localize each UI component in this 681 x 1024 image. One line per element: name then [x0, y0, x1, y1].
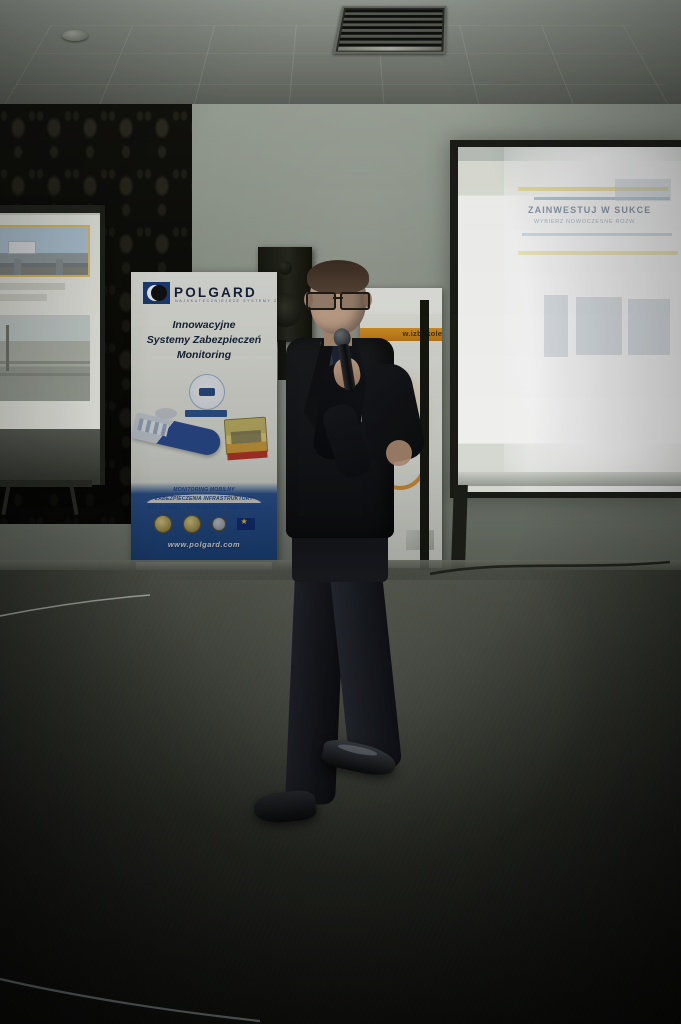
tripod-bar [0, 480, 92, 487]
tripod-leg [69, 485, 78, 515]
eyeglasses-icon [305, 292, 371, 307]
right-screen-base-shadow [458, 472, 681, 486]
slide-railway-photo [0, 315, 90, 401]
lens-right [340, 292, 370, 310]
hvac-vent-icon [333, 6, 446, 54]
right-projection-screen: ZAINWESTUJ W SUKCE WYBIERZ NOWOCZESNE RO… [450, 140, 681, 498]
vent-lip [338, 47, 442, 51]
conference-room-photo: ZAINWESTUJ W SUKCE WYBIERZ NOWOCZESNE RO… [0, 0, 681, 1024]
slide-thumbnail [628, 299, 670, 355]
slide-accent-bar-yellow [518, 251, 678, 255]
rail-line [0, 361, 90, 364]
tripod-leg [1, 485, 10, 515]
slide-bridge-photo [0, 225, 90, 277]
right-slide-subheadline: WYBIERZ NOWOCZESNE ROZW [534, 219, 681, 225]
lens-left [306, 292, 336, 310]
speaker-person [234, 264, 424, 844]
slide-caption-line-2 [0, 294, 47, 301]
left-screen-slide [0, 215, 100, 430]
left-projection-screen [0, 205, 105, 485]
bridge-pier [14, 259, 21, 275]
right-slide-headline: ZAINWESTUJ W SUKCE [528, 205, 681, 215]
floor-cable-bottom [0, 965, 260, 1024]
slide-text-block [615, 179, 671, 201]
left-screen-shadow [0, 429, 100, 485]
vent-slats [338, 10, 443, 50]
rail-line [0, 373, 90, 376]
hair [307, 260, 369, 294]
floor-cable-right [430, 556, 670, 578]
left-screen-top-bar [0, 205, 100, 213]
floor-cable-left [0, 592, 150, 622]
bridge-pier [56, 259, 63, 275]
slide-thumbnail [576, 297, 622, 355]
catenary-post [6, 325, 9, 371]
slide-thumbnail [544, 295, 568, 357]
smoke-detector-icon [62, 30, 88, 41]
right-hand [386, 440, 412, 466]
left-screen-tripod [0, 480, 92, 514]
slide-caption-line-1 [0, 283, 65, 290]
slide-train [8, 241, 36, 254]
left-shoe [253, 789, 318, 825]
slide-accent-bar-blue [522, 233, 672, 236]
